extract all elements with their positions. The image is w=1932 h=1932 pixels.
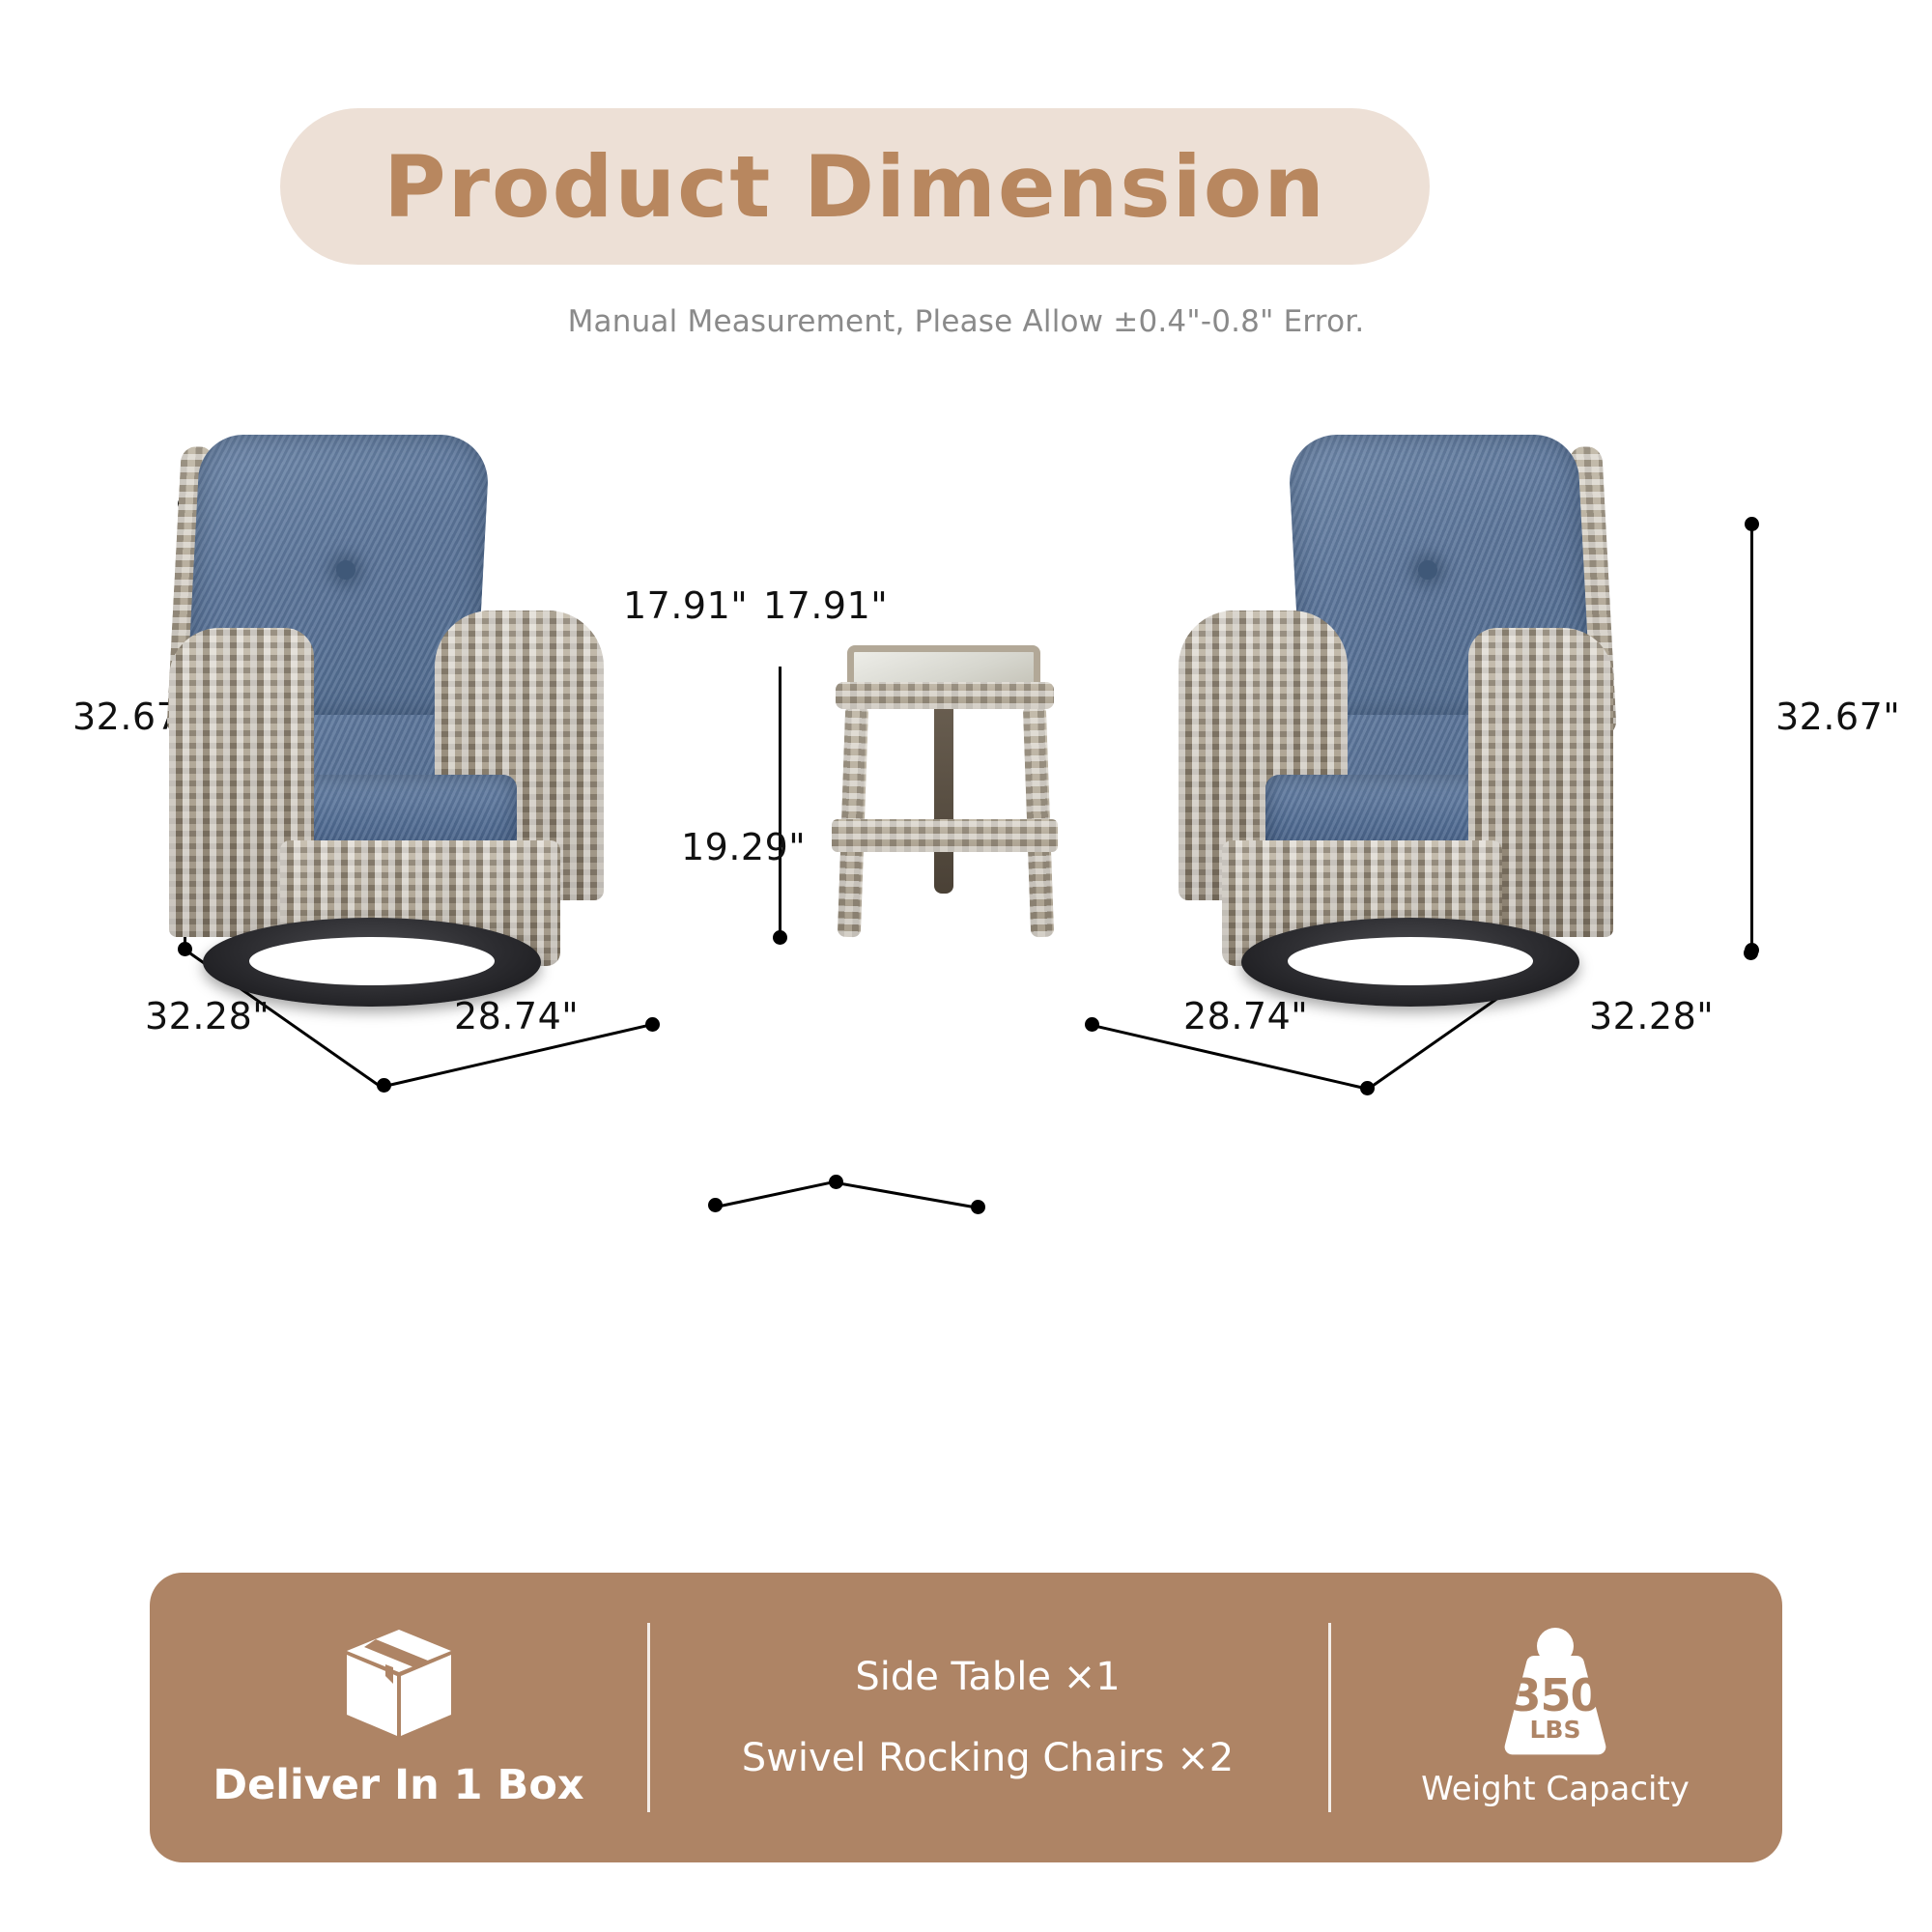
side-table-illustration — [826, 638, 1087, 1043]
right-height-line — [1750, 525, 1753, 950]
footer-info-bar: Deliver In 1 Box Side Table ×1 Swivel Ro… — [150, 1573, 1782, 1862]
right-chair-height-label: 32.67" — [1776, 696, 1900, 738]
right-chair-swivel-inner — [1288, 937, 1533, 985]
title-banner: Product Dimension — [280, 108, 1430, 265]
right-chair-tuft-button — [1418, 560, 1437, 580]
side-table-top-rim — [836, 682, 1054, 709]
page-title: Product Dimension — [384, 137, 1326, 237]
deliver-label: Deliver In 1 Box — [213, 1761, 583, 1809]
weight-capacity-label: Weight Capacity — [1421, 1770, 1690, 1808]
footer-items-cell: Side Table ×1 Swivel Rocking Chairs ×2 — [647, 1573, 1328, 1862]
left-chair-tuft-button — [336, 560, 355, 580]
table-height-label: 19.29" — [681, 826, 806, 868]
table-height-line — [779, 667, 781, 937]
right-chair-illustration — [1111, 435, 1671, 995]
right-chair-width-label: 28.74" — [1183, 995, 1308, 1037]
footer-delivery-cell: Deliver In 1 Box — [150, 1573, 647, 1862]
side-table-leg-back — [934, 696, 953, 894]
table-right-dot — [971, 1200, 985, 1214]
measurement-disclaimer: Manual Measurement, Please Allow ±0.4"-0… — [0, 304, 1932, 339]
left-chair-width-label: 28.74" — [454, 995, 579, 1037]
side-table-lower-shelf — [832, 819, 1058, 852]
table-height-dot-bottom — [773, 930, 787, 945]
right-chair-depth-label: 32.28" — [1589, 995, 1714, 1037]
box-icon — [341, 1626, 457, 1740]
weight-unit: LBS — [1483, 1716, 1628, 1744]
table-width-left-line — [716, 1180, 836, 1208]
table-width-right-line — [837, 1181, 976, 1208]
product-dimension-diagram: 32.67" 32.28" 28.74" 17.91" 17.91" 19.29… — [0, 415, 1932, 1497]
table-width-right-label: 17.91" — [763, 584, 888, 627]
left-width-dot — [645, 1017, 660, 1032]
left-chair-depth-label: 32.28" — [145, 995, 270, 1037]
table-width-left-label: 17.91" — [623, 584, 748, 627]
item-line-2: Swivel Rocking Chairs ×2 — [742, 1739, 1234, 1777]
weight-icon: 350 LBS — [1483, 1627, 1628, 1758]
left-chair-illustration — [164, 435, 705, 995]
weight-number: 350 — [1483, 1669, 1628, 1721]
right-depth-dot — [1744, 946, 1758, 960]
footer-weight-cell: 350 LBS Weight Capacity — [1328, 1573, 1782, 1862]
item-line-1: Side Table ×1 — [855, 1658, 1120, 1696]
left-chair-swivel-inner — [249, 937, 495, 985]
